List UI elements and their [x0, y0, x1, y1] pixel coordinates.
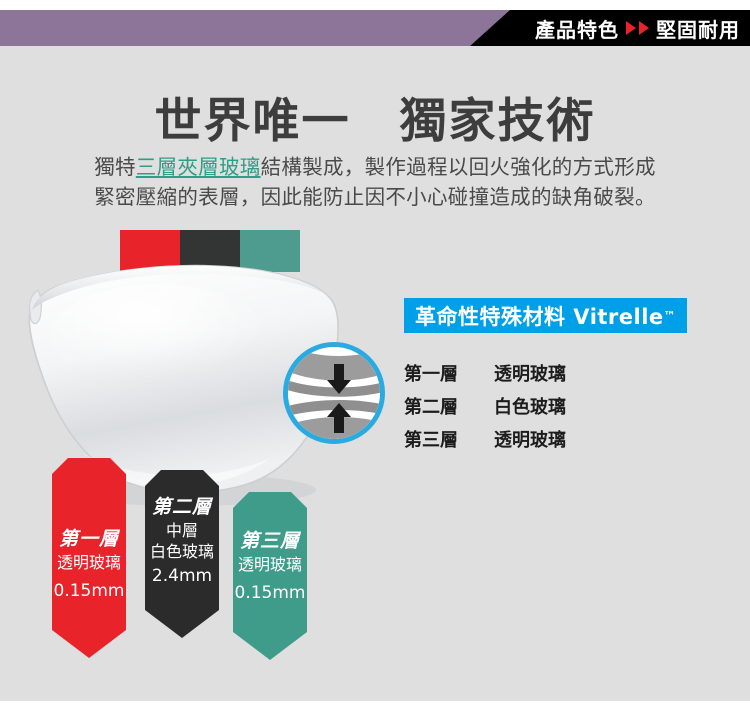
desc-post: 結構製成，製作過程以回火強化的方式形成 [261, 155, 656, 179]
description-text: 獨特三層夾層玻璃結構製成，製作過程以回火強化的方式形成 緊密壓縮的表層，因此能防… [0, 152, 750, 212]
layer-row: 第一層 透明玻璃 [404, 356, 684, 389]
ribbon-3-thickness: 0.15mm [233, 583, 307, 603]
trademark-symbol: ™ [664, 309, 677, 323]
ribbon-2-thickness: 2.4mm [145, 566, 219, 586]
layer-name: 第一層 [404, 360, 494, 386]
header-band: 產品特色 堅固耐用 [0, 10, 750, 46]
header-right-label: 堅固耐用 [656, 14, 740, 43]
bottom-white-strip [0, 701, 750, 718]
material-banner-label: 革命性特殊材料 Vitrelle [415, 301, 664, 331]
layer-value: 透明玻璃 [494, 426, 566, 452]
desc-highlight: 三層夾層玻璃 [136, 155, 261, 179]
magnifier-circle [283, 342, 385, 444]
material-banner: 革命性特殊材料 Vitrelle™ [404, 298, 687, 333]
desc-pre: 獨特 [94, 155, 136, 179]
description-line-2: 緊密壓縮的表層，因此能防止因不小心碰撞造成的缺角破裂。 [0, 182, 750, 212]
layer-value: 透明玻璃 [494, 360, 566, 386]
ribbon-2-line-1: 中層 [145, 520, 219, 541]
ribbon-3-title: 第三層 [233, 526, 307, 553]
ribbon-2-line-2: 白色玻璃 [145, 541, 219, 562]
magnifier-svg [283, 342, 385, 444]
ribbon-1-thickness: 0.15mm [52, 581, 126, 601]
description-line-1: 獨特三層夾層玻璃結構製成，製作過程以回火強化的方式形成 [0, 152, 750, 182]
ribbon-1-title: 第一層 [52, 524, 126, 551]
layer-value: 白色玻璃 [494, 393, 566, 419]
ribbon-2-title: 第二層 [145, 492, 219, 519]
ribbon-3-line-1: 透明玻璃 [233, 554, 307, 575]
page-title: 世界唯一 獨家技術 [0, 82, 750, 151]
layer-row: 第二層 白色玻璃 [404, 389, 684, 422]
header-left-label: 產品特色 [535, 14, 619, 43]
header-label-group: 產品特色 堅固耐用 [535, 10, 740, 46]
content-canvas: 世界唯一 獨家技術 獨特三層夾層玻璃結構製成，製作過程以回火強化的方式形成 緊密… [0, 46, 750, 701]
ribbon-1-line-1: 透明玻璃 [52, 552, 126, 573]
magnifier-content [283, 342, 385, 444]
layer-name: 第二層 [404, 393, 494, 419]
double-right-arrow-icon [626, 21, 649, 35]
layer-list: 第一層 透明玻璃 第二層 白色玻璃 第三層 透明玻璃 [404, 356, 684, 455]
layer-name: 第三層 [404, 426, 494, 452]
product-feature-infographic: 產品特色 堅固耐用 世界唯一 獨家技術 獨特三層夾層玻璃結構製成，製作過程以回火… [0, 0, 750, 718]
layer-row: 第三層 透明玻璃 [404, 422, 684, 455]
